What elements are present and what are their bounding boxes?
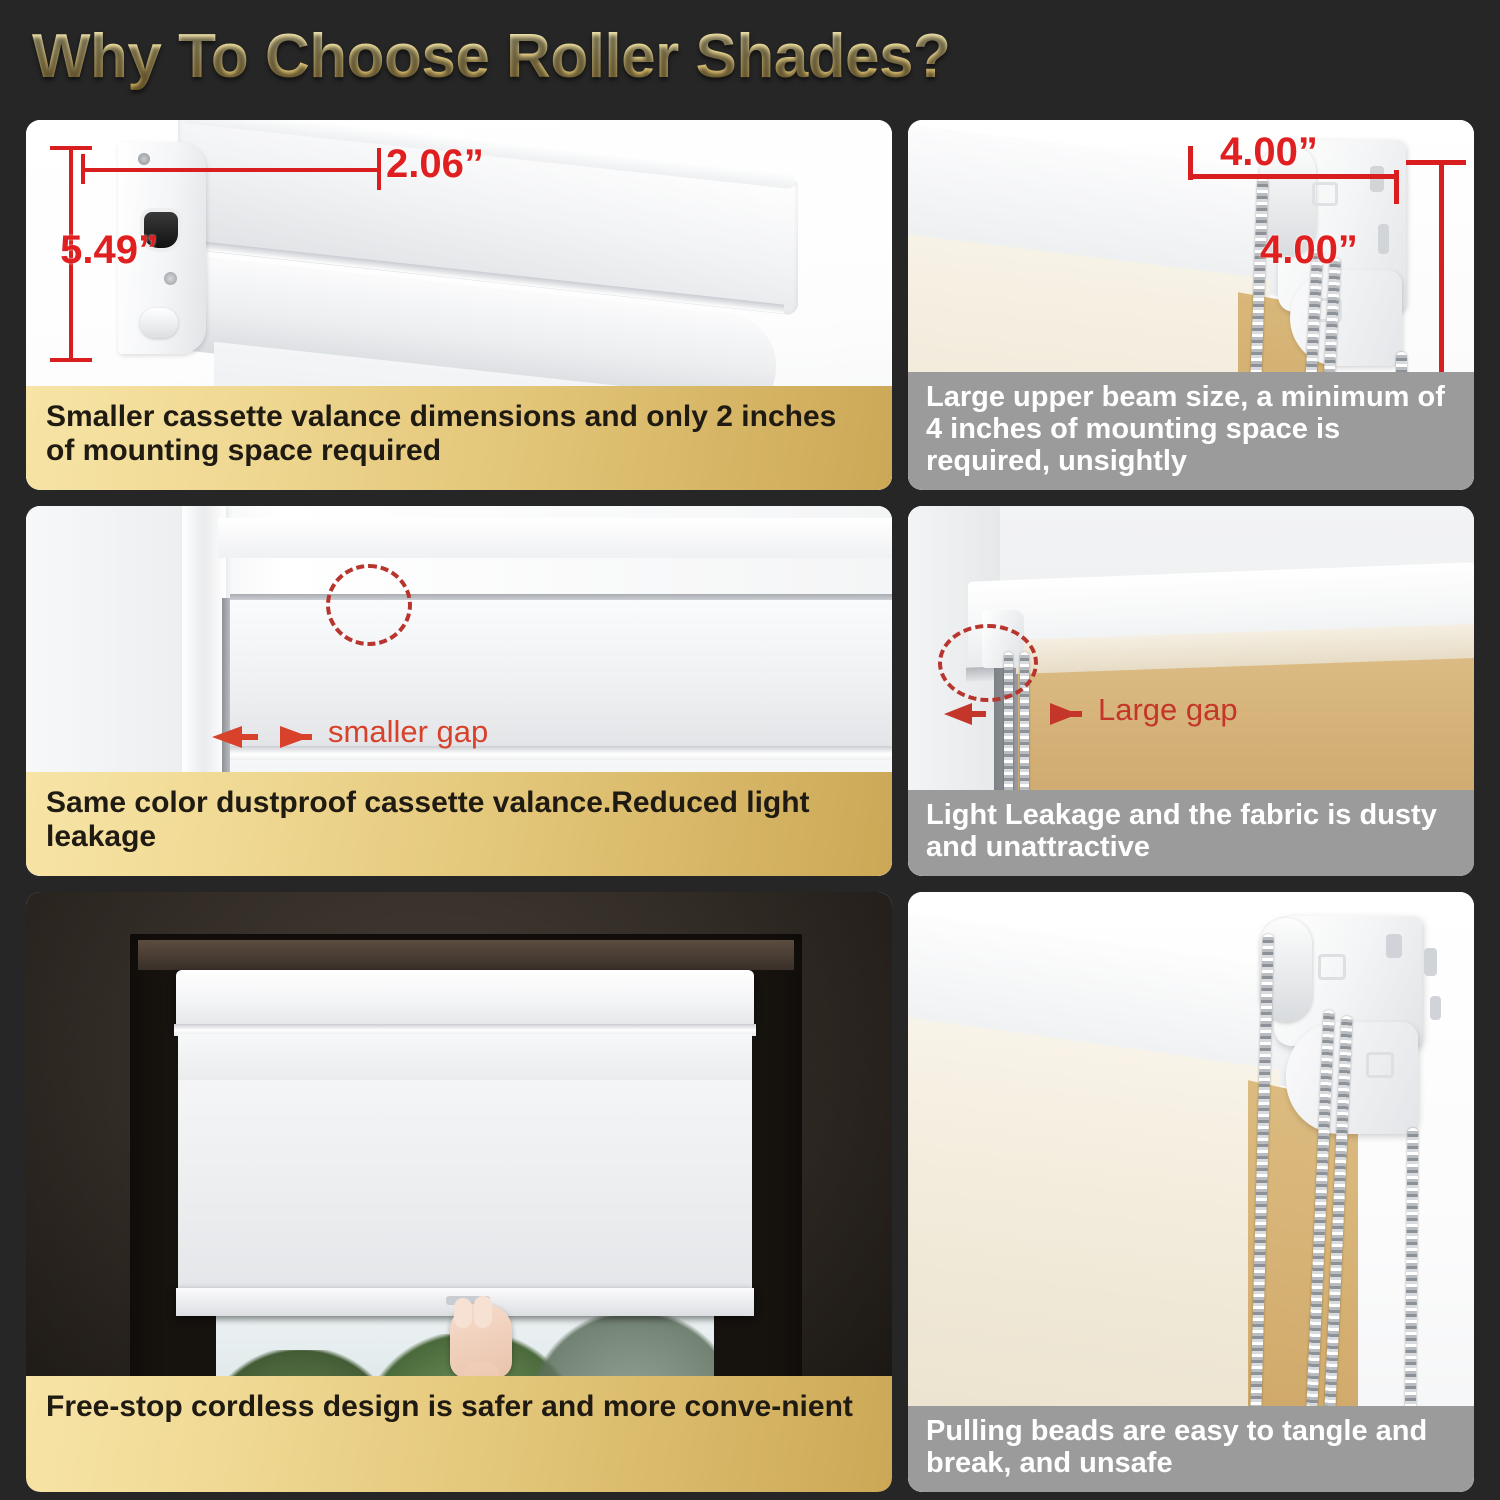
gap-arrow-left-icon [944, 698, 1014, 730]
width-dim-line [81, 168, 381, 172]
bracket-slot-icon [1370, 166, 1384, 192]
caption-cassette-dimensions: Smaller cassette valance dimensions and … [26, 386, 892, 490]
bracket-slot-icon [1378, 224, 1389, 254]
smaller-gap-label: smaller gap [328, 714, 488, 750]
pulling-beads-photo [908, 892, 1474, 1492]
panel-large-beam[interactable]: 4.00” 4.00” Large upper beam size, a min… [908, 120, 1474, 490]
caption-pulling-beads: Pulling beads are easy to tangle and bre… [908, 1406, 1474, 1492]
panel-pulling-beads[interactable]: Pulling beads are easy to tangle and bre… [908, 892, 1474, 1492]
beads-bracket-lower-lobe [1286, 1022, 1418, 1134]
panel-large-gap[interactable]: Large gap Light Leakage and the fabric i… [908, 506, 1474, 876]
width-dimension-label: 2.06” [386, 142, 484, 187]
bead-chain [1405, 1128, 1419, 1454]
width-dim-tick-right [377, 148, 381, 190]
large-gap-label: Large gap [1098, 692, 1238, 728]
caption-large-beam: Large upper beam size, a minimum of 4 in… [908, 372, 1474, 490]
height-dim-tick-bottom [50, 358, 92, 362]
upper-fabric-band [178, 1034, 752, 1082]
window-casing-top [218, 518, 892, 558]
hand-finger [474, 1296, 492, 1328]
caption-smaller-gap: Same color dustproof cassette valance.Re… [26, 772, 892, 876]
height-dimension-label: 5.49” [26, 228, 158, 273]
bracket-logo-icon [1318, 954, 1346, 980]
mount-clip-icon [140, 308, 178, 338]
beam-width-tick-left [1188, 146, 1193, 180]
bracket-slot-icon [1424, 948, 1437, 976]
panel-smaller-gap[interactable]: smaller gap Same color dustproof cassett… [26, 506, 892, 876]
window-header-trim [138, 940, 794, 970]
gap-arrow-right-icon [1014, 698, 1100, 730]
bracket-slot-icon [1386, 934, 1402, 958]
beads-cream-fabric [908, 1014, 1280, 1469]
caption-large-gap: Light Leakage and the fabric is dusty an… [908, 790, 1474, 876]
page-title: Why To Choose Roller Shades? [32, 21, 950, 92]
highlight-circle-gap [938, 624, 1038, 702]
comparison-grid: 2.06” 5.49” Smaller cassette valance dim… [0, 112, 1500, 1500]
screw-icon [164, 272, 177, 285]
beam-width-label: 4.00” [1220, 130, 1318, 175]
bracket-logo-icon [1312, 182, 1338, 206]
beam-width-tick-right [1394, 170, 1399, 204]
cordless-headrail [176, 970, 754, 1028]
beam-height-tick-top [1406, 160, 1466, 165]
beam-height-label: 4.00” [1260, 228, 1358, 273]
width-dim-tick-left [81, 154, 85, 184]
height-dim-tick-top [50, 146, 92, 150]
gap-arrow-right-icon [240, 720, 330, 754]
panel-cordless-design[interactable]: Free-stop cordless design is safer and m… [26, 892, 892, 1492]
panel-cassette-dimensions[interactable]: 2.06” 5.49” Smaller cassette valance dim… [26, 120, 892, 490]
page-header: Why To Choose Roller Shades? [0, 0, 1500, 112]
bracket-logo-icon [1366, 1052, 1394, 1078]
highlight-circle-seam [326, 564, 412, 646]
screw-icon [138, 153, 150, 165]
shade-main-fabric [178, 1080, 752, 1292]
caption-cordless-design: Free-stop cordless design is safer and m… [26, 1376, 892, 1492]
bracket-slot-icon [1430, 996, 1441, 1020]
hand-finger [454, 1298, 472, 1328]
